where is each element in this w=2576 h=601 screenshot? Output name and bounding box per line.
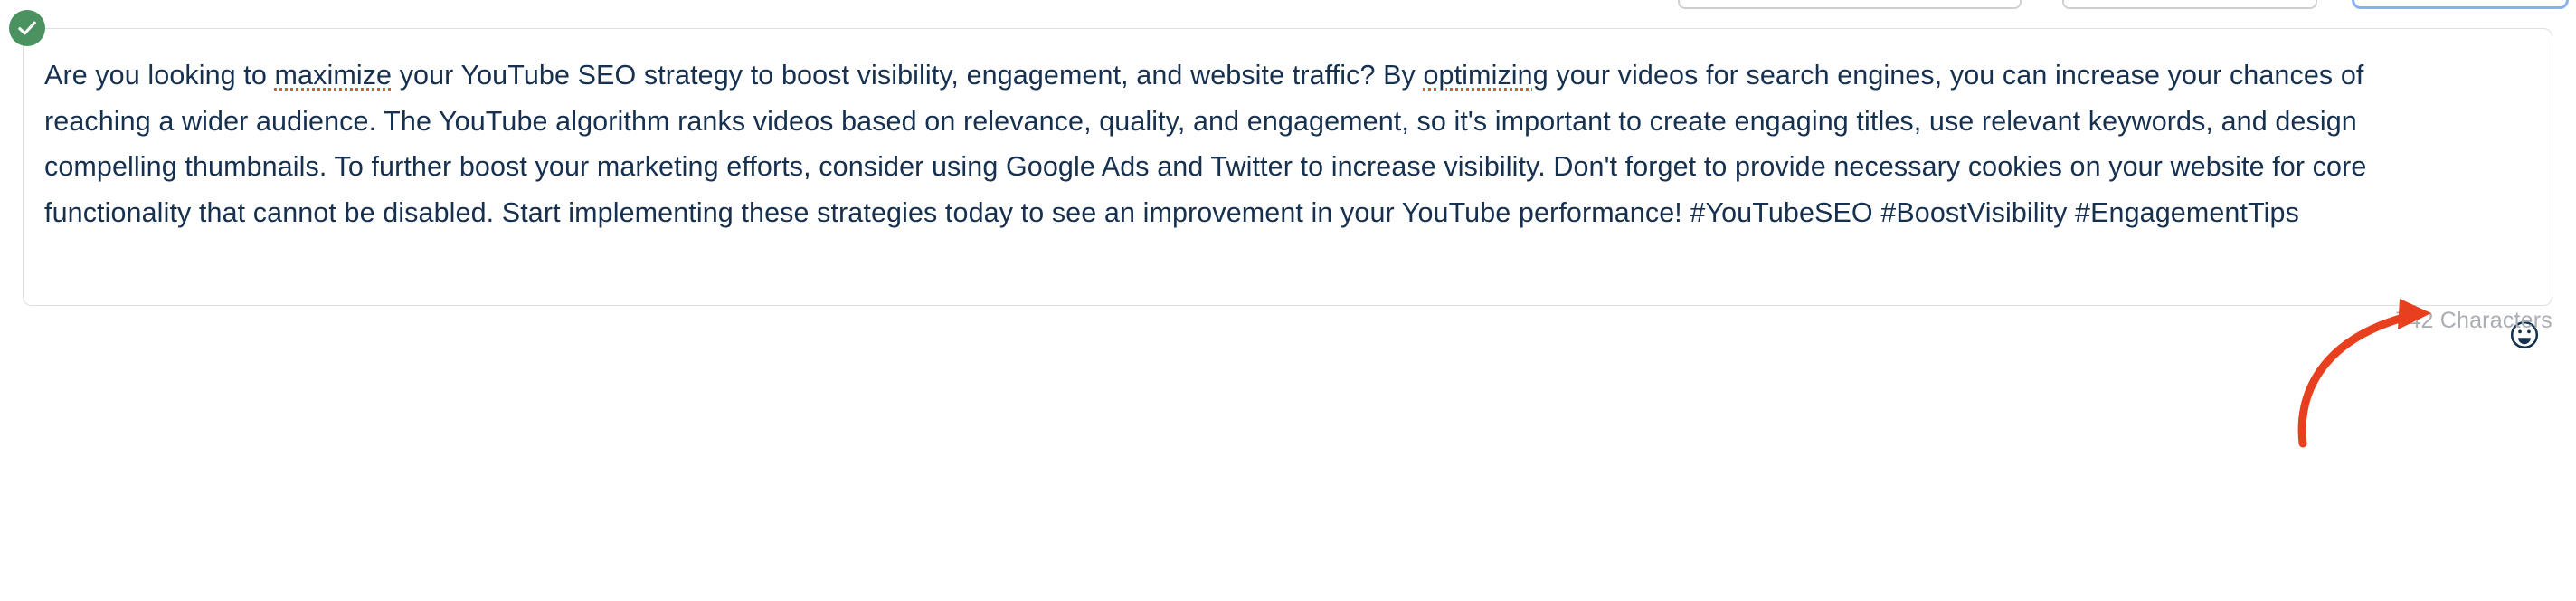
screen-root: Are you looking to maximize your YouTube…	[0, 0, 2576, 601]
toolbar-cutoff-field-2[interactable]	[2062, 0, 2317, 9]
character-counter: 742 Characters	[2395, 308, 2552, 334]
spellcheck-misspelled-word: optimizing	[1423, 60, 1548, 91]
post-composer-text[interactable]: Are you looking to maximize your YouTube…	[44, 52, 2414, 235]
text-run: your YouTube SEO strategy to boost visib…	[392, 60, 1423, 91]
text-run: Are you looking to	[44, 60, 275, 91]
toolbar-cutoff-field-3-focused[interactable]	[2352, 0, 2569, 9]
check-circle-icon	[15, 16, 39, 40]
toolbar-cutoff-field-1[interactable]	[1678, 0, 2022, 9]
success-check-badge	[9, 10, 45, 46]
post-composer-card[interactable]: Are you looking to maximize your YouTube…	[23, 28, 2552, 306]
toolbar-cutoff-row	[0, 0, 2576, 11]
spellcheck-misspelled-word: maximize	[275, 60, 393, 91]
